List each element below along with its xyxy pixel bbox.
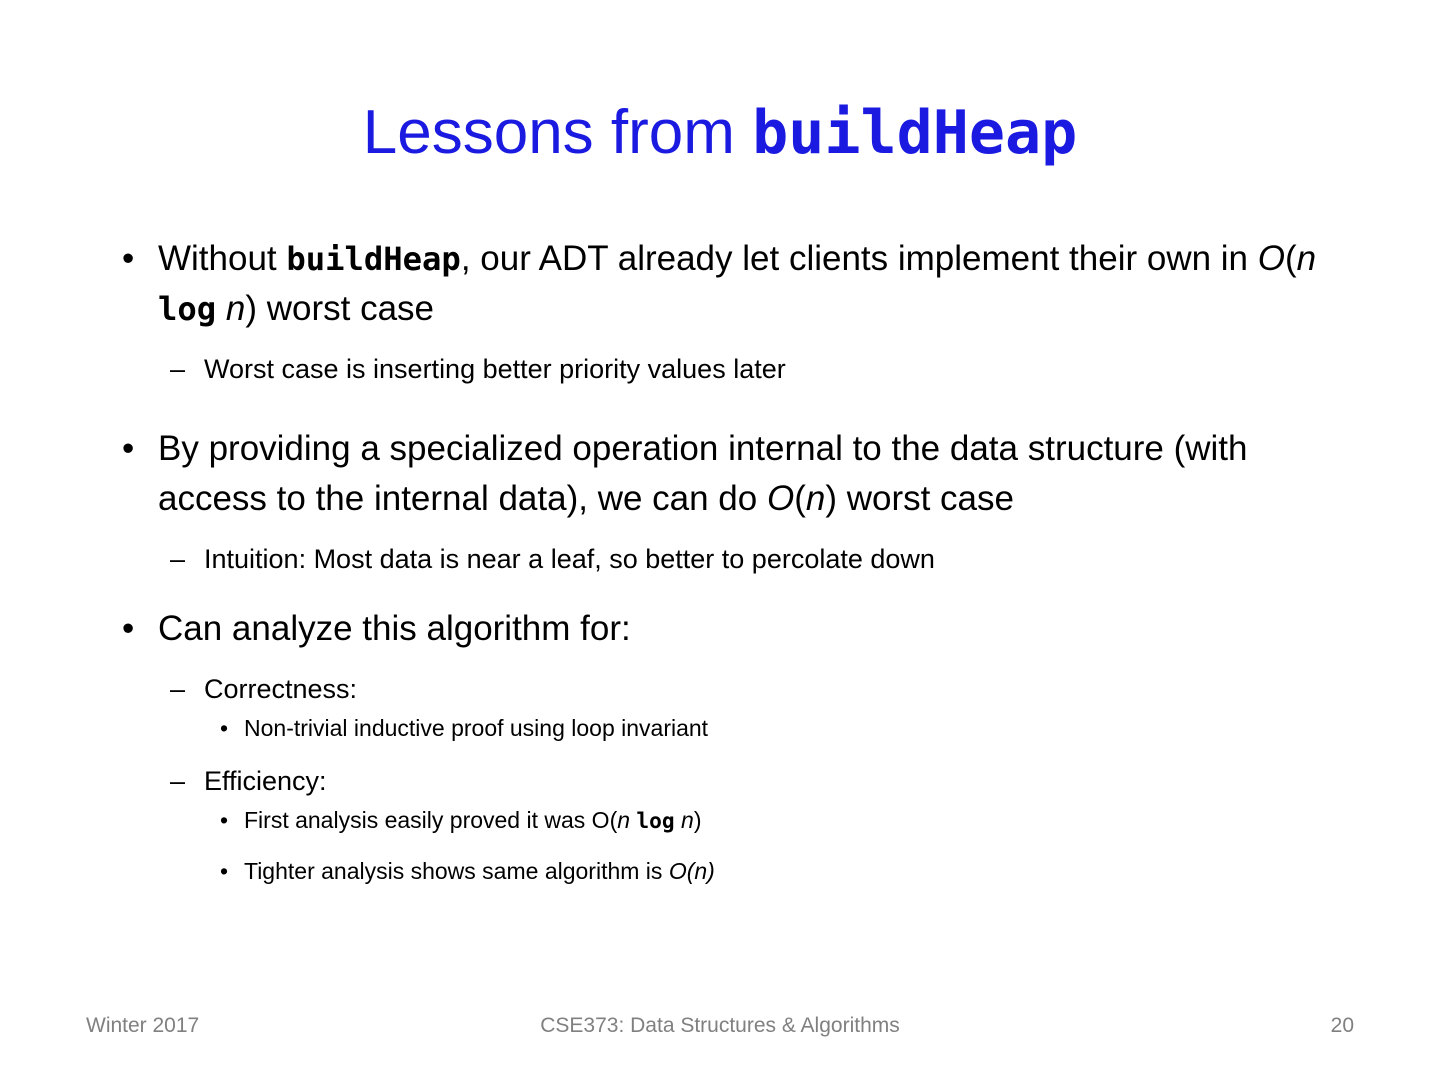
bullet3-sub2-b-part1: Tighter analysis shows same algorithm is — [244, 858, 669, 884]
bullet2-paren-close: ) — [825, 479, 837, 518]
bullet1-code-buildheap: buildHeap — [286, 240, 460, 278]
title-text-plain: Lessons from — [363, 98, 752, 167]
bullet-level2-correctness: – Correctness: — [118, 668, 1348, 710]
slide-canvas: Lessons from buildHeap • Without buildHe… — [0, 0, 1440, 1080]
spacer — [118, 839, 1348, 853]
bullet2-var-n: n — [806, 479, 825, 518]
title-text-code: buildHeap — [752, 98, 1077, 168]
dash-marker-icon: – — [170, 668, 185, 710]
footer-course-title: CSE373: Data Structures & Algorithms — [0, 1012, 1440, 1040]
bullet-level3-tighter-analysis: • Tighter analysis shows same algorithm … — [118, 853, 1348, 889]
bullet-marker-icon: • — [220, 802, 228, 838]
spacer — [118, 524, 1348, 538]
bullet2-part2: worst case — [837, 479, 1014, 518]
bullet2-bigo-symbol: O — [767, 479, 794, 518]
bullet3-sub1-text: Correctness: — [204, 674, 357, 704]
bullet3-sub2-a-var-n1: n — [617, 807, 630, 833]
bullet-marker-icon: • — [220, 710, 228, 746]
bullet2-paren-open: ( — [794, 479, 806, 518]
spacer — [118, 334, 1348, 348]
bullet1-var-n1: n — [1297, 239, 1316, 278]
footer-slide-number: 20 — [1331, 1012, 1354, 1040]
bullet3-sub2-b-paren-close: ) — [707, 858, 715, 884]
bullet1-part3: worst case — [257, 289, 434, 328]
bullet3-sub2-text: Efficiency: — [204, 766, 327, 796]
slide-body: • Without buildHeap, our ADT already let… — [118, 234, 1348, 889]
spacer — [118, 390, 1348, 424]
bullet-level1-specialized-operation: • By providing a specialized operation i… — [118, 424, 1348, 524]
bullet-level1-can-analyze: • Can analyze this algorithm for: — [118, 604, 1348, 654]
bullet3-sub2-a-code-log: log — [636, 808, 674, 833]
bullet1-code-log: log — [158, 290, 216, 328]
bullet3-sub2-b-bigo-symbol: O — [669, 858, 687, 884]
bullet2-part1: By providing a specialized operation int… — [158, 429, 1248, 518]
bullet1-part2: , our ADT already let clients implement … — [461, 239, 1258, 278]
bullet1-bigo-symbol: O — [1258, 239, 1285, 278]
bullet-marker-icon: • — [122, 604, 134, 654]
bullet3-sub2-b-var-n: n — [694, 858, 707, 884]
dash-marker-icon: – — [170, 538, 185, 580]
bullet-level2-intuition: – Intuition: Most data is near a leaf, s… — [118, 538, 1348, 580]
bullet3-text: Can analyze this algorithm for: — [158, 609, 631, 648]
bullet-level3-first-analysis: • First analysis easily proved it was O(… — [118, 802, 1348, 839]
bullet1-sub1-text: Worst case is inserting better priority … — [204, 354, 786, 384]
bullet-level2-worst-case-insert: – Worst case is inserting better priorit… — [118, 348, 1348, 390]
bullet-marker-icon: • — [122, 234, 134, 284]
bullet3-sub2-a-var-n2: n — [681, 807, 694, 833]
bullet3-sub2-a-part1: First analysis easily proved it was O( — [244, 807, 617, 833]
spacer — [118, 654, 1348, 668]
bullet2-sub1-text: Intuition: Most data is near a leaf, so … — [204, 544, 935, 574]
bullet-level2-efficiency: – Efficiency: — [118, 760, 1348, 802]
bullet1-paren-open: ( — [1285, 239, 1297, 278]
bullet-marker-icon: • — [122, 424, 134, 474]
spacer — [118, 580, 1348, 604]
bullet1-part1: Without — [158, 239, 286, 278]
slide-title: Lessons from buildHeap — [72, 96, 1368, 170]
dash-marker-icon: – — [170, 760, 185, 802]
bullet1-paren-close: ) — [245, 289, 257, 328]
bullet3-sub1-a-text: Non-trivial inductive proof using loop i… — [244, 715, 708, 741]
bullet-marker-icon: • — [220, 853, 228, 889]
bullet1-space2 — [216, 289, 226, 328]
bullet-level3-non-trivial-proof: • Non-trivial inductive proof using loop… — [118, 710, 1348, 746]
bullet-level1-without-buildheap: • Without buildHeap, our ADT already let… — [118, 234, 1348, 334]
bullet1-var-n2: n — [226, 289, 245, 328]
slide-footer: Winter 2017 CSE373: Data Structures & Al… — [0, 1012, 1440, 1052]
bullet3-sub2-a-part2: ) — [694, 807, 702, 833]
dash-marker-icon: – — [170, 348, 185, 390]
spacer — [118, 746, 1348, 760]
